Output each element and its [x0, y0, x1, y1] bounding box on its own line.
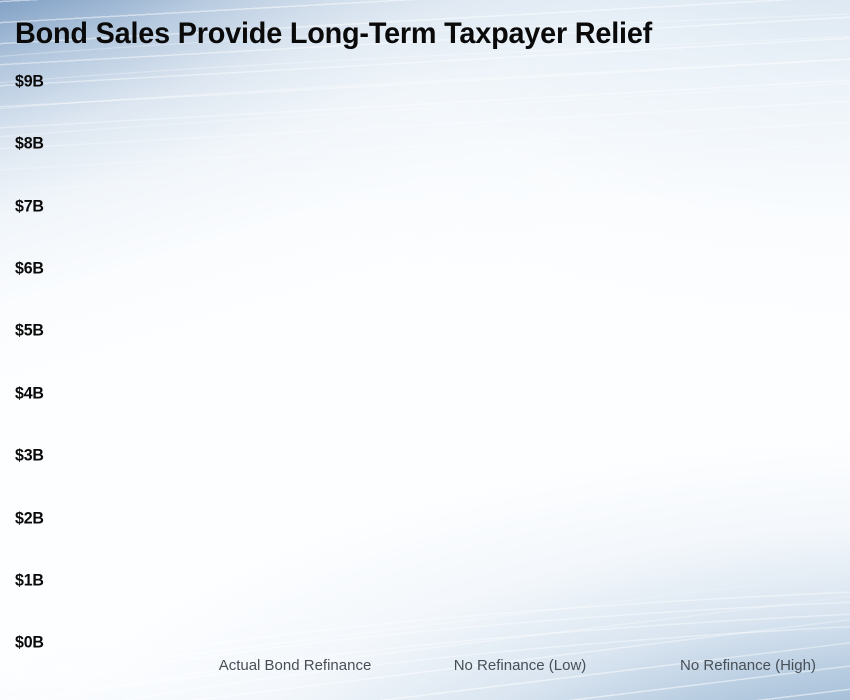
x-axis-category-label: No Refinance (High)	[680, 655, 816, 677]
y-axis-tick-label: $1B	[15, 572, 44, 589]
x-axis: Actual Bond Refinance No Refinance (Low)…	[0, 655, 850, 679]
y-axis-tick-label: $9B	[15, 73, 44, 90]
y-axis-tick-label: $7B	[15, 198, 44, 215]
y-axis-tick-label: $3B	[15, 447, 44, 464]
y-axis-tick-label: $0B	[15, 634, 44, 651]
y-axis: $9B $8B $7B $6B $5B $4B $3B $2B $1B $0B	[0, 0, 120, 700]
y-axis-tick-label: $6B	[15, 260, 44, 277]
y-axis-tick-label: $2B	[15, 510, 44, 527]
y-axis-tick-label: $5B	[15, 322, 44, 339]
chart-plot-area	[120, 60, 840, 650]
y-axis-tick-label: $8B	[15, 135, 44, 152]
presentation-slide: Bond Sales Provide Long-Term Taxpayer Re…	[0, 0, 850, 700]
x-axis-category-label: Actual Bond Refinance	[219, 655, 372, 677]
slide-content: Bond Sales Provide Long-Term Taxpayer Re…	[0, 0, 850, 700]
y-axis-tick-label: $4B	[15, 385, 44, 402]
x-axis-category-label: No Refinance (Low)	[454, 655, 587, 677]
